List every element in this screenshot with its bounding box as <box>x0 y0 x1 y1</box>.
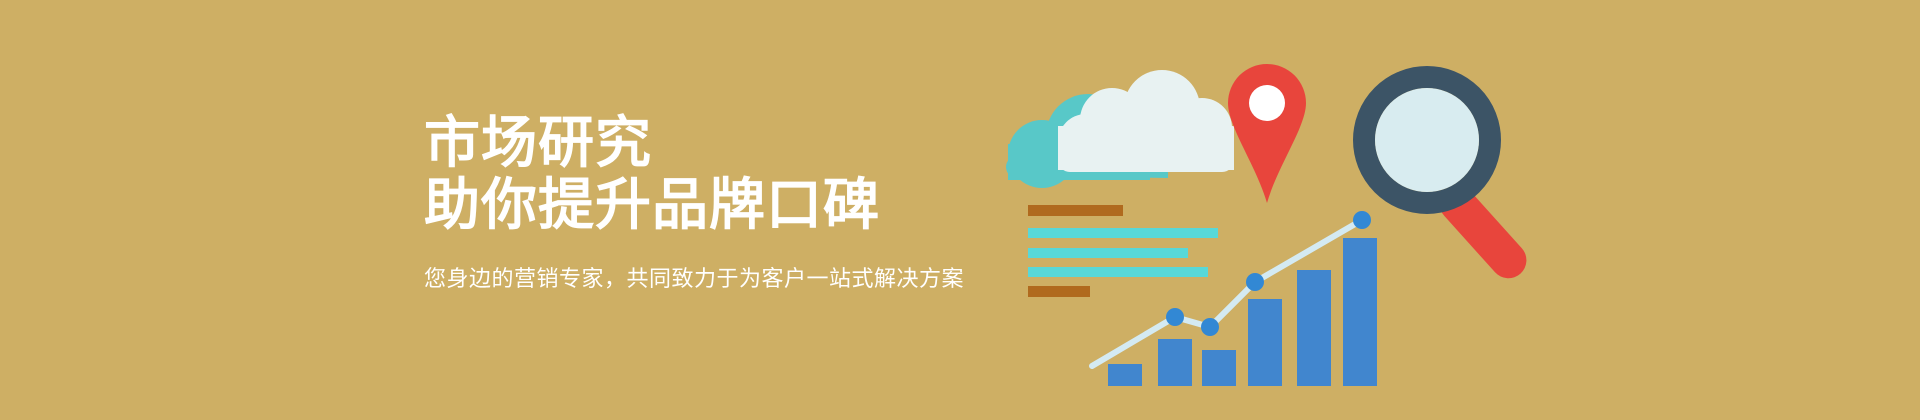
banner-text-block: 市场研究 助你提升品牌口碑 您身边的营销专家，共同致力于为客户一站式解决方案 <box>424 112 1044 294</box>
marketing-banner: 市场研究 助你提升品牌口碑 您身边的营销专家，共同致力于为客户一站式解决方案 <box>0 0 1920 420</box>
doc-line-5 <box>1028 286 1090 297</box>
doc-line-3 <box>1028 248 1188 258</box>
trend-dot-3 <box>1246 273 1264 291</box>
trend-dot-1 <box>1166 308 1184 326</box>
magnifier-lens <box>1375 88 1479 192</box>
banner-subtitle: 您身边的营销专家，共同致力于为客户一站式解决方案 <box>424 236 1044 294</box>
doc-line-4 <box>1028 267 1208 277</box>
headline-line-1: 市场研究 <box>424 112 1044 174</box>
cloud-front-icon <box>1058 70 1234 172</box>
bar-1 <box>1108 364 1142 386</box>
bar-6 <box>1343 238 1377 386</box>
bar-2 <box>1158 339 1192 386</box>
doc-line-1 <box>1028 205 1123 216</box>
bar-4 <box>1248 299 1282 386</box>
document-lines-group <box>1028 205 1218 297</box>
doc-line-2 <box>1028 228 1218 238</box>
marketing-illustration <box>990 36 1570 386</box>
magnifying-glass-icon <box>1364 77 1534 286</box>
bar-chart-group <box>1108 238 1377 386</box>
trend-dot-4 <box>1353 211 1371 229</box>
headline-line-2: 助你提升品牌口碑 <box>424 174 1044 236</box>
map-pin-icon <box>1228 64 1306 203</box>
bar-3 <box>1202 350 1236 386</box>
bar-5 <box>1297 270 1331 386</box>
trend-dot-2 <box>1201 318 1219 336</box>
